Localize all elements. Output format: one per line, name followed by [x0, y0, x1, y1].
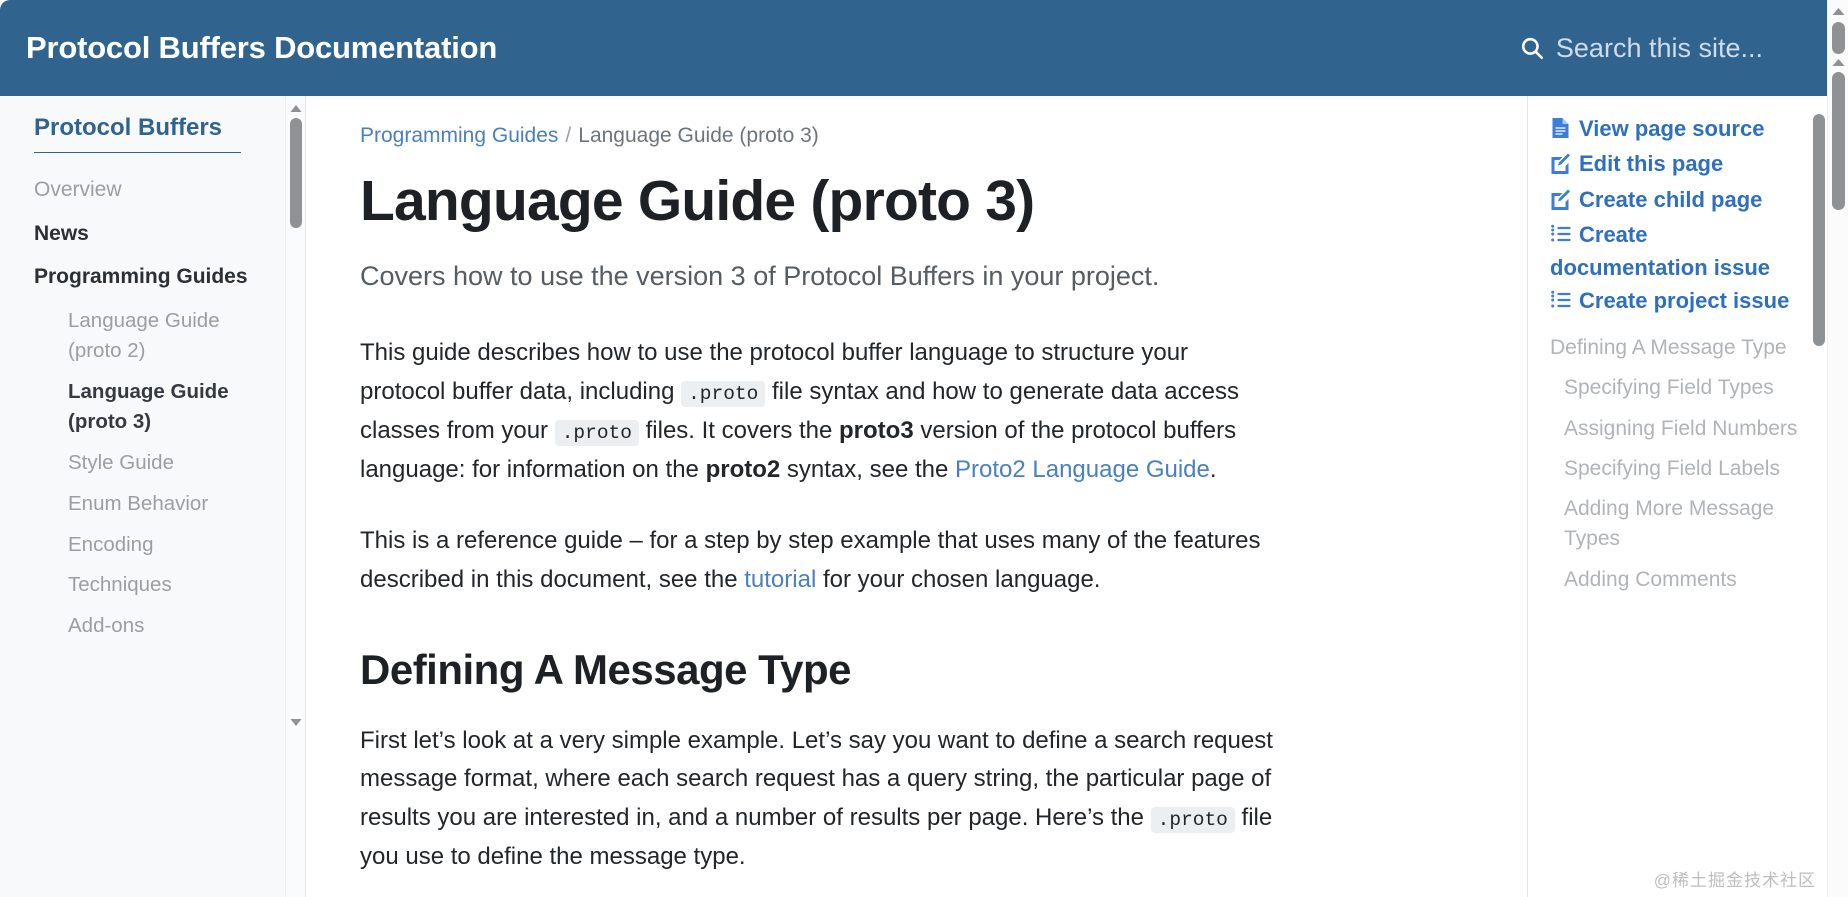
sidebar-item-encoding[interactable]: Encoding	[34, 530, 275, 560]
p1-bold-proto2: proto2	[706, 456, 781, 483]
breadcrumb-separator: /	[565, 124, 571, 147]
toc-link-adding-comments[interactable]: Adding Comments	[1550, 565, 1801, 595]
sidebar-item-language-guide-proto2[interactable]: Language Guide (proto 2)	[34, 306, 275, 366]
toc-action-label: View page source	[1579, 116, 1764, 141]
page-title: Language Guide (proto 3)	[360, 170, 1467, 234]
main-content: Programming Guides/Language Guide (proto…	[306, 96, 1527, 897]
window-scroll-thumb-outer[interactable]	[1832, 22, 1845, 54]
p3-text-a: First let’s look at a very simple exampl…	[360, 727, 1273, 832]
content-scroll-up-arrow-icon[interactable]	[1831, 56, 1846, 71]
left-sidebar: Protocol Buffers Overview News Programmi…	[0, 96, 306, 897]
toc-action-create-project-issue[interactable]: Create project issue	[1550, 286, 1801, 319]
window-scrollbar[interactable]	[1827, 0, 1848, 897]
checklist-icon	[1550, 289, 1571, 319]
toc-link-list: Defining A Message Type Specifying Field…	[1550, 333, 1801, 595]
sidebar-scrollbar[interactable]	[285, 96, 305, 897]
toc-action-create-documentation-issue[interactable]: Create documentation issue	[1550, 220, 1801, 284]
sidebar-item-add-ons[interactable]: Add-ons	[34, 611, 275, 641]
toc-scroll-thumb[interactable]	[1813, 114, 1825, 346]
intro-paragraph-1: This guide describes how to use the prot…	[360, 334, 1280, 490]
sidebar-item-techniques[interactable]: Techniques	[34, 570, 275, 600]
intro-paragraph-2: This is a reference guide – for a step b…	[360, 522, 1280, 600]
p1-text-f: .	[1210, 456, 1217, 483]
sidebar-heading: Protocol Buffers	[34, 114, 275, 152]
pencil-square-icon	[1550, 152, 1571, 182]
page-lead-description: Covers how to use the version 3 of Proto…	[360, 258, 1467, 294]
file-document-icon	[1550, 117, 1571, 147]
window-scroll-up-arrow-icon[interactable]	[1831, 5, 1846, 20]
inline-code-proto-1: .proto	[681, 381, 765, 407]
right-toc-panel: View page source Edit this page Create c	[1527, 96, 1827, 897]
pencil-square-icon	[1550, 188, 1571, 218]
sidebar-item-news[interactable]: News	[34, 219, 275, 250]
toc-action-label: Create child page	[1579, 187, 1762, 212]
inline-code-proto-3: .proto	[1151, 807, 1235, 833]
breadcrumb-current: Language Guide (proto 3)	[578, 124, 819, 147]
p1-text-c: files. It covers the	[639, 417, 839, 444]
sidebar-item-programming-guides[interactable]: Programming Guides	[34, 262, 275, 293]
toc-action-label: Edit this page	[1579, 151, 1723, 176]
toc-link-specifying-field-types[interactable]: Specifying Field Types	[1550, 373, 1801, 403]
toc-link-defining-a-message-type[interactable]: Defining A Message Type	[1550, 333, 1801, 363]
p1-bold-proto3: proto3	[839, 417, 914, 444]
breadcrumb: Programming Guides/Language Guide (proto…	[360, 124, 1467, 148]
search-input-placeholder[interactable]: Search this site...	[1556, 33, 1763, 64]
site-brand-title: Protocol Buffers Documentation	[26, 30, 497, 66]
toc-action-view-page-source[interactable]: View page source	[1550, 114, 1801, 147]
scroll-down-arrow-icon[interactable]	[289, 715, 303, 729]
body-layout: Protocol Buffers Overview News Programmi…	[0, 96, 1827, 897]
toc-link-specifying-field-labels[interactable]: Specifying Field Labels	[1550, 454, 1801, 484]
sidebar-scroll-thumb[interactable]	[290, 118, 302, 228]
toc-link-assigning-field-numbers[interactable]: Assigning Field Numbers	[1550, 414, 1801, 444]
sidebar-item-style-guide[interactable]: Style Guide	[34, 448, 275, 478]
section-heading-defining-a-message-type: Defining A Message Type	[360, 646, 1467, 694]
search-icon	[1519, 35, 1545, 61]
p2-text-b: for your chosen language.	[816, 566, 1100, 593]
checklist-icon	[1550, 223, 1571, 253]
toc-action-label: Create documentation issue	[1550, 222, 1770, 280]
sidebar-content: Protocol Buffers Overview News Programmi…	[0, 114, 305, 641]
inline-code-proto-2: .proto	[555, 420, 639, 446]
link-proto2-language-guide[interactable]: Proto2 Language Guide	[955, 456, 1210, 483]
link-tutorial[interactable]: tutorial	[744, 566, 816, 593]
section-paragraph-1: First let’s look at a very simple exampl…	[360, 722, 1280, 878]
content-scroll-thumb[interactable]	[1832, 72, 1845, 210]
toc-action-edit-this-page[interactable]: Edit this page	[1550, 149, 1801, 182]
toc-link-adding-more-message-types[interactable]: Adding More Message Types	[1550, 494, 1801, 554]
app-root: Protocol Buffers Documentation Search th…	[0, 0, 1848, 897]
search-box[interactable]: Search this site...	[1519, 33, 1793, 64]
top-navbar: Protocol Buffers Documentation Search th…	[0, 0, 1827, 96]
sidebar-divider	[34, 152, 241, 153]
sidebar-item-overview[interactable]: Overview	[34, 175, 275, 206]
toc-action-label: Create project issue	[1579, 288, 1789, 313]
scroll-up-arrow-icon[interactable]	[289, 102, 303, 116]
sidebar-item-language-guide-proto3[interactable]: Language Guide (proto 3)	[34, 377, 275, 437]
toc-action-create-child-page[interactable]: Create child page	[1550, 185, 1801, 218]
p1-text-e: syntax, see the	[780, 456, 955, 483]
sidebar-item-enum-behavior[interactable]: Enum Behavior	[34, 489, 275, 519]
breadcrumb-link-parent[interactable]: Programming Guides	[360, 124, 558, 147]
